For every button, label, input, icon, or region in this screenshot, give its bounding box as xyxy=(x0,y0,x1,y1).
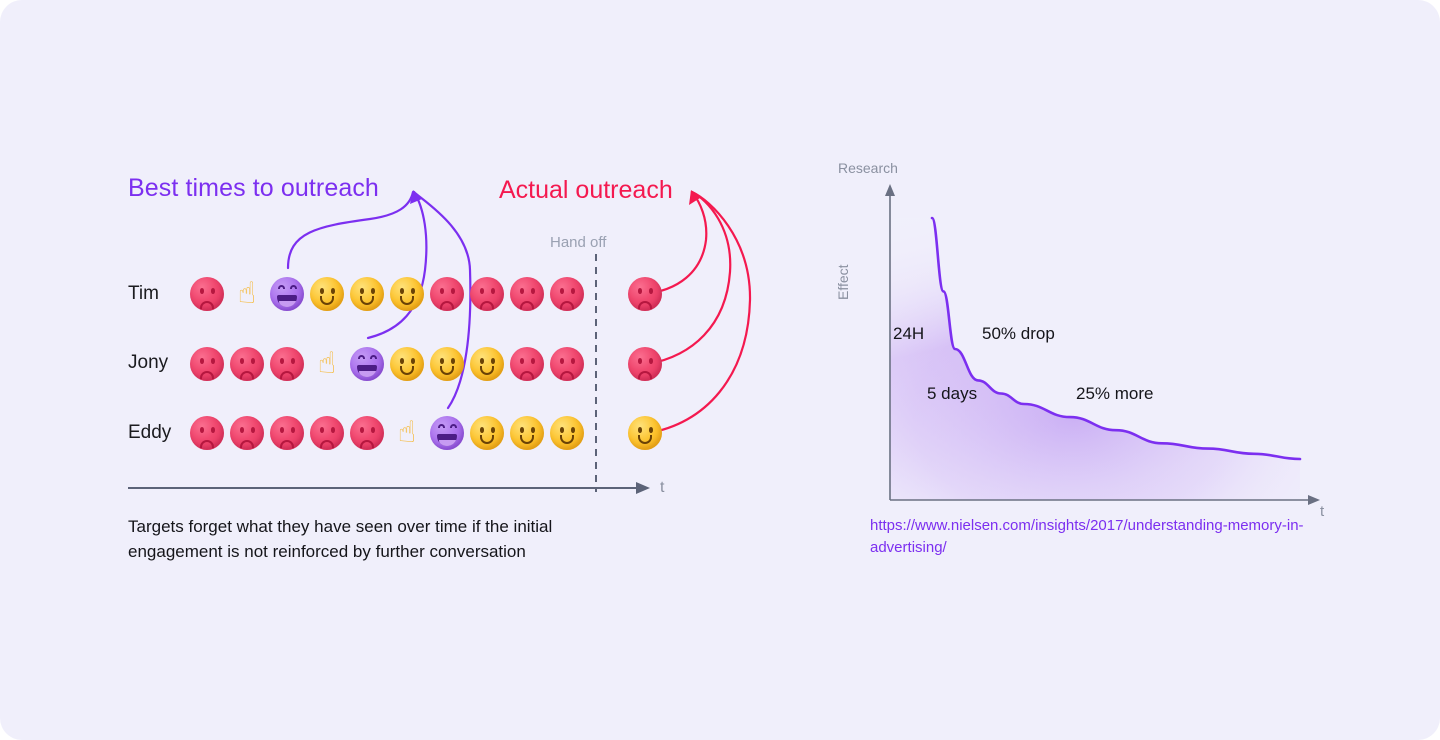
chart-annotation-25-more: 25% more xyxy=(1076,384,1153,404)
timeline-cell-post-handoff xyxy=(628,416,662,450)
timeline-cell xyxy=(470,347,504,381)
emoji-hand-point-up: ☝ xyxy=(390,416,424,450)
timeline-axis-label: t xyxy=(660,479,664,497)
emoji-sad xyxy=(230,416,264,450)
chart-annotation-50-drop: 50% drop xyxy=(982,324,1055,344)
emoji-sad xyxy=(430,277,464,311)
emoji-smile xyxy=(470,347,504,381)
timeline-cell xyxy=(350,277,384,311)
timeline-cell xyxy=(310,277,344,311)
emoji-sad xyxy=(628,277,662,311)
slide-canvas: Best times to outreach Actual outreach H… xyxy=(0,0,1440,740)
timeline-cell xyxy=(510,416,544,450)
emoji-sad xyxy=(270,416,304,450)
source-url-link[interactable]: https://www.nielsen.com/insights/2017/un… xyxy=(870,515,1312,559)
timeline-cell xyxy=(550,347,584,381)
timeline-cell xyxy=(550,416,584,450)
timeline-cell xyxy=(190,277,224,311)
emoji-smile xyxy=(510,416,544,450)
emoji-sad xyxy=(350,416,384,450)
chart-title-research: Research xyxy=(838,160,898,176)
timeline-axis xyxy=(120,475,660,501)
emoji-sad xyxy=(230,347,264,381)
diagram-caption: Targets forget what they have seen over … xyxy=(128,514,648,564)
chart-x-arrowhead xyxy=(1308,495,1320,505)
timeline-cell: ☝ xyxy=(310,347,344,381)
row-label-jony: Jony xyxy=(128,352,168,374)
emoji-smile xyxy=(350,277,384,311)
row-label-eddy: Eddy xyxy=(128,422,171,444)
emoji-smile xyxy=(628,416,662,450)
emoji-sad xyxy=(550,277,584,311)
emoji-smile xyxy=(470,416,504,450)
timeline-cell: ☝ xyxy=(230,277,264,311)
emoji-sad xyxy=(310,416,344,450)
emoji-sad xyxy=(550,347,584,381)
emoji-grin-purple xyxy=(350,347,384,381)
emoji-sad xyxy=(190,347,224,381)
emoji-hand-point-up: ☝ xyxy=(230,277,264,311)
emoji-smile xyxy=(390,347,424,381)
timeline-cell xyxy=(230,416,264,450)
chart-y-axis-label: Effect xyxy=(835,264,851,300)
timeline-cell xyxy=(430,347,464,381)
emoji-smile xyxy=(550,416,584,450)
timeline-cell xyxy=(190,347,224,381)
emoji-smile xyxy=(430,347,464,381)
emoji-sad xyxy=(190,416,224,450)
timeline-cell xyxy=(510,347,544,381)
emoji-sad xyxy=(470,277,504,311)
emoji-sad xyxy=(510,277,544,311)
emoji-sad xyxy=(190,277,224,311)
emoji-smile xyxy=(390,277,424,311)
timeline-cell: ☝ xyxy=(390,416,424,450)
emoji-sad xyxy=(628,347,662,381)
timeline-cell xyxy=(550,277,584,311)
emoji-grin-purple xyxy=(270,277,304,311)
chart-y-arrowhead xyxy=(885,184,895,196)
timeline-cell xyxy=(510,277,544,311)
chart-annotation-24h: 24H xyxy=(893,324,924,344)
timeline-cell xyxy=(390,277,424,311)
timeline-cell xyxy=(310,416,344,450)
emoji-smile xyxy=(310,277,344,311)
emoji-grin-purple xyxy=(430,416,464,450)
emoji-sad xyxy=(510,347,544,381)
timeline-cell xyxy=(350,416,384,450)
row-label-tim: Tim xyxy=(128,283,159,305)
timeline-cell-post-handoff xyxy=(628,347,662,381)
timeline-cell-post-handoff xyxy=(628,277,662,311)
timeline-cell xyxy=(270,277,304,311)
timeline-cell xyxy=(470,416,504,450)
timeline-cell xyxy=(390,347,424,381)
emoji-sad xyxy=(270,347,304,381)
timeline-cell xyxy=(270,416,304,450)
emoji-hand-point-up: ☝ xyxy=(310,347,344,381)
timeline-cell xyxy=(430,416,464,450)
memory-decay-chart xyxy=(860,180,1340,510)
timeline-cell xyxy=(190,416,224,450)
timeline-cell xyxy=(350,347,384,381)
chart-annotation-5-days: 5 days xyxy=(927,384,977,404)
timeline-cell xyxy=(230,347,264,381)
hand-off-dashed-line xyxy=(590,254,604,492)
timeline-cell xyxy=(470,277,504,311)
timeline-cell xyxy=(430,277,464,311)
timeline-cell xyxy=(270,347,304,381)
